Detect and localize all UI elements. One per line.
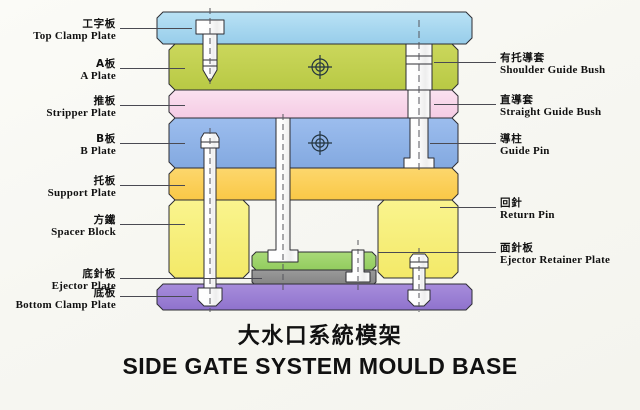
label-support-plate: 托板 Support Plate bbox=[0, 176, 116, 200]
label-bottom-clamp-plate-cn: 底板 bbox=[0, 288, 116, 299]
label-guide-pin: 導柱 Guide Pin bbox=[500, 134, 550, 158]
label-a-plate-en: A Plate bbox=[0, 71, 116, 83]
diagram-title-chinese: 大水口系統模架 bbox=[0, 318, 640, 350]
label-support-plate-en: Support Plate bbox=[0, 188, 116, 200]
label-spacer-block-en: Spacer Block bbox=[0, 227, 116, 239]
label-straight-guide-bush-en: Straight Guide Bush bbox=[500, 107, 601, 119]
leader-spacer-block bbox=[120, 224, 185, 225]
leader-stripper-plate bbox=[120, 105, 185, 106]
label-shoulder-guide-bush: 有托導套 Shoulder Guide Bush bbox=[500, 53, 605, 77]
label-ejector-plate-cn: 底針板 bbox=[0, 269, 116, 280]
diagram-title: 大水口系統模架 SIDE GATE SYSTEM MOULD BASE bbox=[0, 318, 640, 380]
label-straight-guide-bush-cn: 直導套 bbox=[500, 95, 601, 106]
label-guide-pin-cn: 導柱 bbox=[500, 134, 550, 145]
leader-guide-pin bbox=[430, 143, 496, 144]
label-bottom-clamp-plate-en: Bottom Clamp Plate bbox=[0, 300, 116, 312]
label-return-pin-en: Return Pin bbox=[500, 210, 555, 222]
label-return-pin-cn: 回針 bbox=[500, 198, 555, 209]
leader-straight-guide-bush bbox=[434, 104, 496, 105]
label-return-pin: 回針 Return Pin bbox=[500, 198, 555, 222]
label-b-plate-cn: B板 bbox=[0, 134, 116, 145]
label-stripper-plate: 推板 Stripper Plate bbox=[0, 96, 116, 120]
label-spacer-block-cn: 方鐵 bbox=[0, 215, 116, 226]
label-stripper-plate-cn: 推板 bbox=[0, 96, 116, 107]
leader-top-clamp-plate bbox=[120, 28, 192, 29]
label-b-plate: B板 B Plate bbox=[0, 134, 116, 158]
label-spacer-block: 方鐵 Spacer Block bbox=[0, 215, 116, 239]
leader-return-pin bbox=[440, 207, 496, 208]
label-top-clamp-plate-cn: 工字板 bbox=[0, 19, 116, 30]
label-a-plate-cn: A板 bbox=[0, 59, 116, 70]
leader-b-plate bbox=[120, 143, 185, 144]
label-shoulder-guide-bush-en: Shoulder Guide Bush bbox=[500, 65, 605, 77]
leader-shoulder-guide-bush bbox=[434, 62, 496, 63]
diagram-title-english: SIDE GATE SYSTEM MOULD BASE bbox=[0, 353, 640, 380]
mould-base-diagram: 工字板 Top Clamp Plate A板 A Plate 推板 Stripp… bbox=[0, 0, 640, 410]
leader-a-plate bbox=[120, 68, 185, 69]
label-top-clamp-plate: 工字板 Top Clamp Plate bbox=[0, 19, 116, 43]
leader-ejector-plate bbox=[120, 278, 262, 279]
leader-support-plate bbox=[120, 185, 185, 186]
label-b-plate-en: B Plate bbox=[0, 146, 116, 158]
label-ejector-retainer-plate-en: Ejector Retainer Plate bbox=[500, 255, 610, 267]
leader-ejector-retainer-plate bbox=[378, 252, 496, 253]
label-stripper-plate-en: Stripper Plate bbox=[0, 108, 116, 120]
label-guide-pin-en: Guide Pin bbox=[500, 146, 550, 158]
label-top-clamp-plate-en: Top Clamp Plate bbox=[0, 31, 116, 43]
label-support-plate-cn: 托板 bbox=[0, 176, 116, 187]
label-ejector-retainer-plate-cn: 面針板 bbox=[500, 243, 610, 254]
label-shoulder-guide-bush-cn: 有托導套 bbox=[500, 53, 605, 64]
label-straight-guide-bush: 直導套 Straight Guide Bush bbox=[500, 95, 601, 119]
label-bottom-clamp-plate: 底板 Bottom Clamp Plate bbox=[0, 288, 116, 312]
leader-bottom-clamp-plate bbox=[120, 296, 192, 297]
label-a-plate: A板 A Plate bbox=[0, 59, 116, 83]
label-ejector-retainer-plate: 面針板 Ejector Retainer Plate bbox=[500, 243, 610, 267]
